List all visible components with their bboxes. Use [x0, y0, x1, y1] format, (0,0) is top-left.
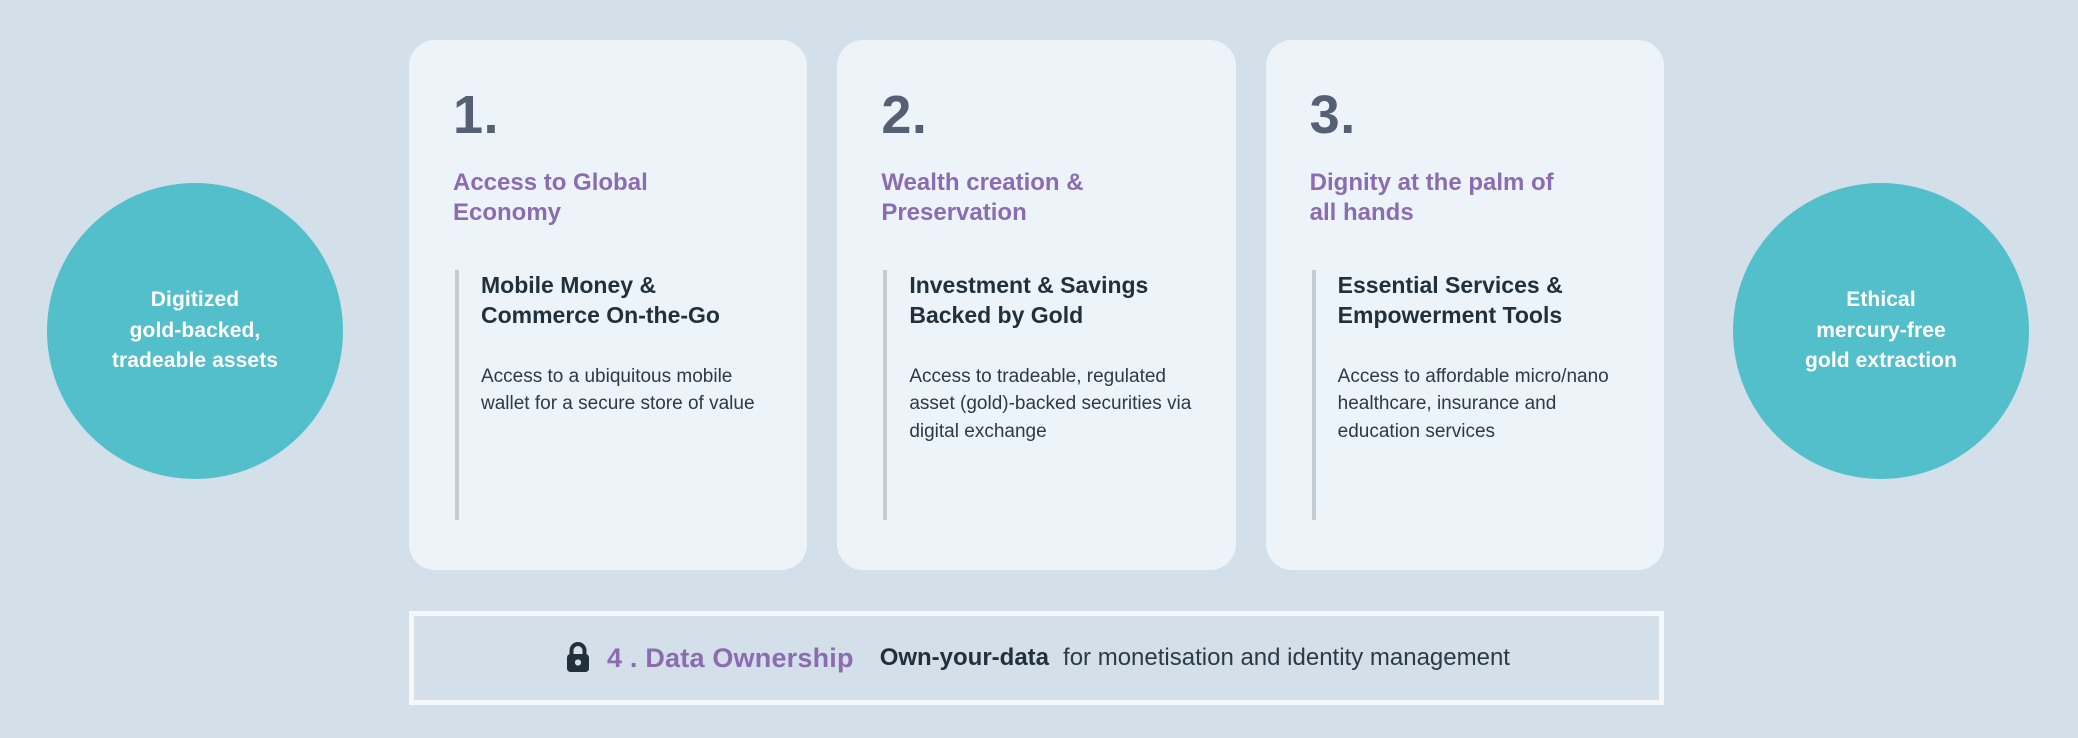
card-3-subtitle: Essential Services & Empowerment Tools — [1338, 270, 1622, 331]
data-ownership-banner[interactable]: 4 . Data Ownership Own-your-data for mon… — [409, 611, 1664, 705]
card-1-title: Access to Global Economy — [453, 168, 713, 228]
card-2-subtitle: Investment & Savings Backed by Gold — [909, 270, 1193, 331]
card-3[interactable]: 3. Dignity at the palm of all hands Esse… — [1266, 40, 1664, 570]
card-2-number: 2. — [881, 88, 1193, 142]
cards-container: 1. Access to Global Economy Mobile Money… — [409, 40, 1664, 570]
right-circle-badge: Ethical mercury-free gold extraction — [1733, 183, 2029, 479]
left-circle-line-3: tradeable assets — [86, 346, 304, 376]
right-circle-line-2: mercury-free — [1779, 316, 1983, 346]
left-circle-line-2: gold-backed, — [86, 316, 304, 346]
data-ownership-strong: Own-your-data — [880, 644, 1049, 672]
card-1-number: 1. — [453, 88, 765, 142]
card-1-body: Mobile Money & Commerce On-the-Go Access… — [455, 270, 765, 520]
data-ownership-label: 4 . Data Ownership — [607, 643, 854, 674]
data-ownership-text: for monetisation and identity management — [1063, 644, 1510, 672]
right-circle-line-1: Ethical — [1779, 285, 1983, 315]
card-2-description: Access to tradeable, regulated asset (go… — [909, 363, 1193, 446]
card-3-description: Access to affordable micro/nano healthca… — [1338, 363, 1622, 446]
data-ownership-content: 4 . Data Ownership Own-your-data for mon… — [563, 641, 1510, 675]
card-3-body: Essential Services & Empowerment Tools A… — [1312, 270, 1622, 520]
card-1[interactable]: 1. Access to Global Economy Mobile Money… — [409, 40, 807, 570]
card-3-title: Dignity at the palm of all hands — [1310, 168, 1570, 228]
card-1-description: Access to a ubiquitous mobile wallet for… — [481, 363, 765, 418]
card-2-title: Wealth creation & Preservation — [881, 168, 1141, 228]
card-2-body: Investment & Savings Backed by Gold Acce… — [883, 270, 1193, 520]
left-circle-line-1: Digitized — [86, 285, 304, 315]
card-2[interactable]: 2. Wealth creation & Preservation Invest… — [837, 40, 1235, 570]
left-circle-badge: Digitized gold-backed, tradeable assets — [47, 183, 343, 479]
right-circle-line-3: gold extraction — [1779, 346, 1983, 376]
card-1-subtitle: Mobile Money & Commerce On-the-Go — [481, 270, 765, 331]
lock-icon — [563, 641, 593, 675]
card-3-number: 3. — [1310, 88, 1622, 142]
